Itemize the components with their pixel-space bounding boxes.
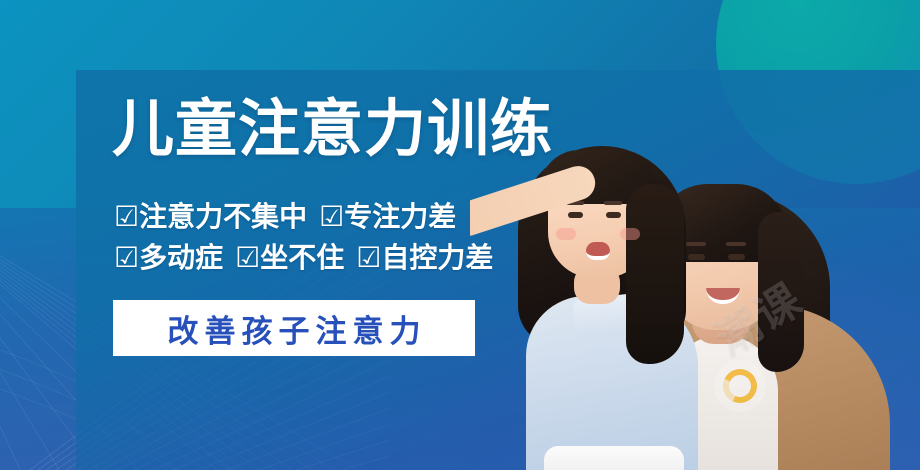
mother-eye-left [688,254,705,260]
symptom-item-label: 专注力差 [344,201,456,232]
banner-title: 儿童注意力训练 [112,99,553,161]
symptom-item-label: 注意力不集中 [139,201,307,232]
mother-eyebrow-left [686,242,706,246]
symptom-line-2: ☑多动症☑坐不住☑自控力差 [114,237,493,278]
child-mouth [586,242,610,260]
mother-child-photo [470,120,920,470]
child-cheek-left [556,228,576,240]
cta-label: 改善孩子注意力 [162,306,427,351]
promo-banner: 儿童注意力训练 ☑注意力不集中☑专注力差 ☑多动症☑坐不住☑自控力差 改善孩子注… [0,0,920,470]
checkbox-icon: ☑ [356,242,381,273]
mother-eyebrow-right [726,242,746,246]
symptom-item-label: 多动症 [139,242,223,273]
child-eye-left [568,212,583,218]
child-shorts [544,446,684,470]
checkbox-icon: ☑ [235,242,260,273]
checkbox-icon: ☑ [114,242,139,273]
child-cheek-right [620,228,640,240]
symptom-list: ☑注意力不集中☑专注力差 ☑多动症☑坐不住☑自控力差 [114,196,493,279]
symptom-item-label: 自控力差 [381,242,493,273]
child-eye-right [606,212,621,218]
mother-hair-side [758,212,804,372]
symptom-item-label: 坐不住 [260,242,344,273]
checkbox-icon: ☑ [114,201,139,232]
symptom-line-1: ☑注意力不集中☑专注力差 [114,196,493,237]
child-hair-side [626,184,684,364]
checkbox-icon: ☑ [319,201,344,232]
mother-eye-right [728,254,745,260]
child-eyebrow-right [604,201,622,205]
cta-banner[interactable]: 改善孩子注意力 [113,300,475,356]
